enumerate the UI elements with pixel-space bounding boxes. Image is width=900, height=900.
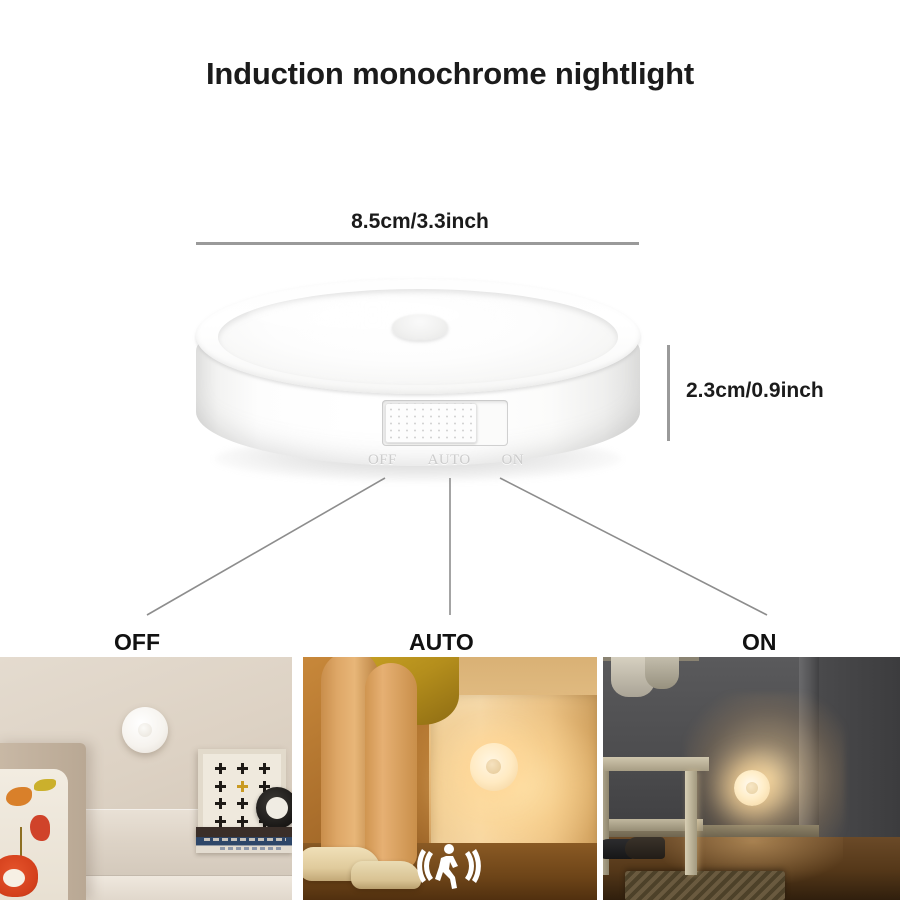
p1-book-title-text (204, 838, 286, 841)
p2-nightlight-on (470, 743, 518, 791)
mode-caption-on: ON (742, 629, 777, 656)
p1-fox-motif (0, 855, 38, 897)
p1-book-subtitle-text (220, 847, 282, 850)
p2-slipper-right (351, 861, 421, 889)
mode-caption-auto: AUTO (409, 629, 474, 656)
p1-nightlight-off (122, 707, 168, 753)
p2-leg-right (365, 663, 417, 869)
p1-speaker (256, 787, 292, 829)
p1-plus-icon (215, 816, 226, 827)
height-dimension-label: 2.3cm/0.9inch (686, 379, 824, 403)
p1-book-stack (196, 827, 292, 853)
width-dimension-label: 8.5cm/3.3inch (270, 210, 570, 234)
p3-shoe-rack (603, 757, 709, 877)
switch-legend-off: OFF (368, 452, 397, 469)
p3-hanging-coat-2 (645, 657, 679, 689)
p1-plus-icon (215, 781, 226, 792)
photo-entryway-on (603, 657, 900, 900)
p1-plus-icon (237, 798, 248, 809)
product-highlight (248, 295, 498, 335)
p1-patterned-pillow (0, 769, 68, 900)
photo-strip (0, 657, 900, 900)
switch-legend-on: ON (502, 452, 524, 469)
p1-speaker-ring (266, 797, 288, 819)
p3-shoe-rack-leg-right (685, 771, 697, 875)
p3-nightlight-on (734, 770, 770, 806)
photo-bedroom-off (0, 657, 292, 900)
p1-plus-icon (215, 763, 226, 774)
leader-line-off (147, 478, 385, 615)
mode-switch-slider[interactable] (385, 403, 477, 443)
leader-line-on (500, 478, 767, 615)
p1-fox-face (3, 869, 25, 887)
p1-stem-motif (20, 827, 22, 857)
p1-bird-motif (6, 787, 32, 806)
switch-engraved-legend: OFF AUTO ON (368, 452, 524, 469)
height-dimension-line (667, 345, 670, 441)
switch-legend-auto: AUTO (428, 452, 471, 469)
width-dimension-line (196, 242, 639, 245)
p2-sensor-dome-icon (486, 759, 501, 774)
p3-shoe-rack-top (603, 757, 709, 771)
p1-plus-icon (215, 798, 226, 809)
p3-shoe-dark-b (625, 837, 665, 859)
p1-drawer (80, 875, 292, 900)
p1-bird-motif-2 (30, 815, 50, 841)
motion-sensor-icon (416, 840, 482, 892)
p1-plus-icon (237, 816, 248, 827)
switch-grip-texture (385, 403, 477, 443)
p1-sensor-dome-icon (138, 723, 152, 737)
p3-shoe-rack-leg-left (603, 771, 609, 875)
p1-plus-icon-gold (237, 781, 248, 792)
p1-plus-icon (237, 763, 248, 774)
p3-sensor-dome-icon (746, 782, 758, 794)
product-image: OFF AUTO ON (196, 278, 640, 493)
p1-plus-icon (259, 763, 270, 774)
page-title: Induction monochrome nightlight (0, 56, 900, 92)
pir-sensor-dome-icon (392, 314, 448, 340)
p1-leaf-motif (34, 779, 56, 791)
mode-switch[interactable] (382, 400, 508, 446)
product-infographic: Induction monochrome nightlight 8.5cm/3.… (0, 0, 900, 900)
photo-hallway-auto (303, 657, 597, 900)
product-top-rim (196, 278, 640, 394)
mode-caption-off: OFF (114, 629, 160, 656)
